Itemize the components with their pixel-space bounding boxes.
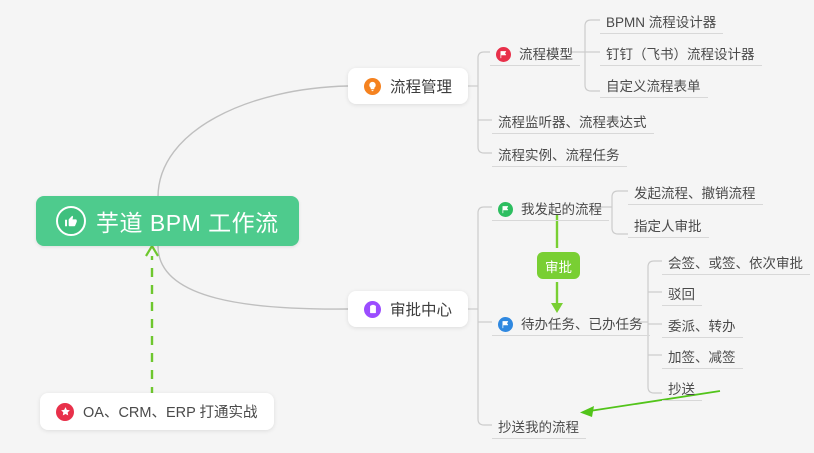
edge-pm-to-instance: [478, 147, 492, 153]
node-cc-to-me-processes[interactable]: 抄送我的流程: [492, 412, 586, 439]
node-label: 我发起的流程: [521, 202, 602, 217]
edge-started-to-assignee: [612, 228, 628, 234]
branch-label: 流程管理: [390, 75, 452, 97]
node-label: 抄送: [668, 382, 695, 397]
node-custom-form[interactable]: 自定义流程表单: [600, 71, 708, 98]
node-label: 委派、转办: [668, 319, 736, 334]
node-carbon-copy[interactable]: 抄送: [662, 374, 702, 401]
dashed-arrow-footnote-head: [146, 246, 158, 256]
mindmap-canvas: 芋道 BPM 工作流 流程管理 流程模型 BPMN 流程设计器 钉钉（飞书）流程…: [0, 0, 814, 453]
edge-todo-to-cc: [648, 387, 662, 393]
root-label: 芋道 BPM 工作流: [96, 204, 279, 238]
node-label: 流程模型: [519, 47, 573, 62]
star-icon: [56, 403, 74, 421]
flag-icon: [498, 202, 513, 217]
node-assignee-approval[interactable]: 指定人审批: [628, 211, 709, 238]
flag-icon: [496, 47, 511, 62]
clipboard-icon: [364, 301, 381, 318]
node-add-remove-sign[interactable]: 加签、减签: [662, 342, 743, 369]
node-process-instance[interactable]: 流程实例、流程任务: [492, 140, 627, 167]
node-todo-done-tasks[interactable]: 待办任务、已办任务: [492, 309, 650, 336]
footnote-node[interactable]: OA、CRM、ERP 打通实战: [40, 393, 274, 430]
node-launch-cancel-process[interactable]: 发起流程、撤销流程: [628, 178, 763, 205]
footnote-label: OA、CRM、ERP 打通实战: [83, 401, 258, 422]
node-label: 流程实例、流程任务: [498, 148, 620, 163]
edge-pm-to-model: [478, 52, 490, 58]
node-process-listener[interactable]: 流程监听器、流程表达式: [492, 107, 654, 134]
edge-model-to-customform: [585, 85, 600, 91]
branch-process-management[interactable]: 流程管理: [348, 68, 468, 104]
tag-approval[interactable]: 审批: [537, 252, 580, 279]
edge-root-to-approval-center: [158, 246, 348, 309]
node-label: 自定义流程表单: [606, 79, 701, 94]
thumbs-up-icon: [56, 206, 86, 236]
node-dingtalk-designer[interactable]: 钉钉（飞书）流程设计器: [600, 39, 762, 66]
node-label: 发起流程、撤销流程: [634, 186, 756, 201]
node-label: 指定人审批: [634, 219, 702, 234]
tag-label: 审批: [545, 256, 572, 276]
edge-todo-to-countersign: [648, 261, 662, 267]
edge-model-to-bpmn: [585, 20, 600, 26]
node-label: 抄送我的流程: [498, 420, 579, 435]
edge-ac-to-started: [478, 207, 492, 213]
lightbulb-icon: [364, 78, 381, 95]
node-process-model[interactable]: 流程模型: [490, 39, 580, 66]
edge-root-to-process-management: [158, 86, 348, 197]
edge-started-to-launch: [612, 191, 628, 197]
node-reject[interactable]: 驳回: [662, 279, 702, 306]
branch-approval-center[interactable]: 审批中心: [348, 291, 468, 327]
root-node[interactable]: 芋道 BPM 工作流: [36, 196, 299, 246]
flag-icon: [498, 317, 513, 332]
branch-label: 审批中心: [390, 298, 452, 320]
node-countersign[interactable]: 会签、或签、依次审批: [662, 248, 810, 275]
node-bpmn-designer[interactable]: BPMN 流程设计器: [600, 7, 723, 34]
node-label: 钉钉（飞书）流程设计器: [606, 47, 755, 62]
node-delegate-transfer[interactable]: 委派、转办: [662, 311, 743, 338]
node-label: 会签、或签、依次审批: [668, 256, 803, 271]
edge-ac-to-cc: [478, 419, 492, 425]
node-label: 流程监听器、流程表达式: [498, 115, 647, 130]
node-label: 驳回: [668, 287, 695, 302]
node-label: BPMN 流程设计器: [606, 15, 716, 30]
node-label: 待办任务、已办任务: [521, 317, 643, 332]
node-my-started-processes[interactable]: 我发起的流程: [492, 194, 609, 221]
node-label: 加签、减签: [668, 350, 736, 365]
